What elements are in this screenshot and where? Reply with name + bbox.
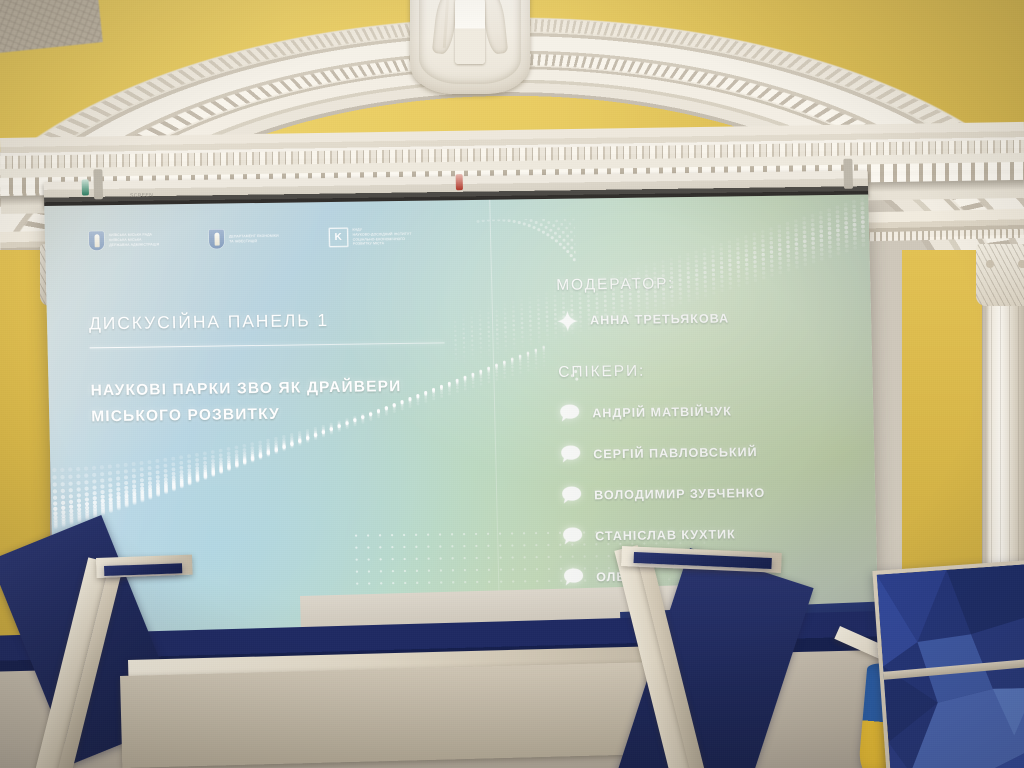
list-item: СЕРГІЙ ПАВЛОВСЬКИЙ xyxy=(560,441,860,464)
speech-bubble-icon xyxy=(561,486,582,505)
speech-bubble-icon xyxy=(562,526,583,545)
kyiv-coat-of-arms-icon xyxy=(410,0,530,94)
slide-vertical-divider xyxy=(489,200,500,642)
speaker-name: СТАНІСЛАВ КУХТИК xyxy=(595,527,736,543)
section-spacer xyxy=(557,326,858,364)
polygonal-blue-banner xyxy=(872,560,1024,768)
kndu-k-mark-icon xyxy=(328,228,347,247)
kyiv-emblem-icon xyxy=(209,229,224,248)
slide-left-column: ДИСКУСІЙНА ПАНЕЛЬ 1 НАУКОВІ ПАРКИ ЗВО ЯК… xyxy=(89,308,472,429)
speaker-name: ВОЛОДИМИР ЗУБЧЕНКО xyxy=(594,485,765,501)
screen-case-label: SCREEN xyxy=(130,192,153,198)
speakers-heading: СПІКЕРИ: xyxy=(558,360,858,382)
kyiv-emblem-icon xyxy=(89,231,104,250)
screen-mount-left xyxy=(93,169,103,199)
photo-canvas: SCREEN xyxy=(0,0,1024,768)
partner-logo-row: Київська міська рада Київська міська дер… xyxy=(89,227,412,251)
speech-bubble-icon xyxy=(563,567,584,586)
panel-title: НАУКОВІ ПАРКИ ЗВО ЯК ДРАЙВЕРИ МІСЬКОГО Р… xyxy=(90,373,471,429)
speech-bubble-icon xyxy=(560,445,581,464)
slide-right-column: МОДЕРАТОР: АННА ТРЕТЬЯКОВА СПІКЕРИ: xyxy=(556,273,863,587)
archangel-wing-right xyxy=(482,0,508,55)
screen-indicator-red xyxy=(456,174,463,190)
list-item: СТАНІСЛАВ КУХТИК xyxy=(562,523,862,546)
screen-mount-right xyxy=(843,159,853,189)
logo-department-of-economy: Департамент економіки та інвестицій xyxy=(209,229,279,249)
screen-indicator-green xyxy=(82,179,89,195)
list-item: АНДРІЙ МАТВІЙЧУК xyxy=(559,400,859,423)
logo-research-institute: КНДУ Науково-дослідний інститут соціальн… xyxy=(328,227,411,247)
four-point-star-icon xyxy=(557,311,578,330)
coat-of-arms-shield xyxy=(419,0,521,84)
logo-caption: Київська міська рада Київська міська дер… xyxy=(109,233,159,248)
frame-lower-face xyxy=(120,661,702,768)
speaker-name: АНДРІЙ МАТВІЙЧУК xyxy=(592,404,732,420)
panel-kicker: ДИСКУСІЙНА ПАНЕЛЬ 1 xyxy=(89,308,469,334)
kicker-underline xyxy=(90,342,445,348)
logo-kyiv-city-council: Київська міська рада Київська міська дер… xyxy=(89,230,159,250)
moderator-name: АННА ТРЕТЬЯКОВА xyxy=(590,311,729,327)
archangel-figure xyxy=(455,0,485,64)
speech-bubble-icon xyxy=(559,404,580,423)
right-corinthian-capital xyxy=(976,244,1024,306)
logo-caption: КНДУ Науково-дослідний інститут соціальн… xyxy=(352,227,411,247)
logo-caption: Департамент економіки та інвестицій xyxy=(229,233,279,243)
moderator-heading: МОДЕРАТОР: xyxy=(556,273,856,295)
speaker-name: СЕРГІЙ ПАВЛОВСЬКИЙ xyxy=(593,445,758,461)
list-item: ВОЛОДИМИР ЗУБЧЕНКО xyxy=(561,482,861,505)
